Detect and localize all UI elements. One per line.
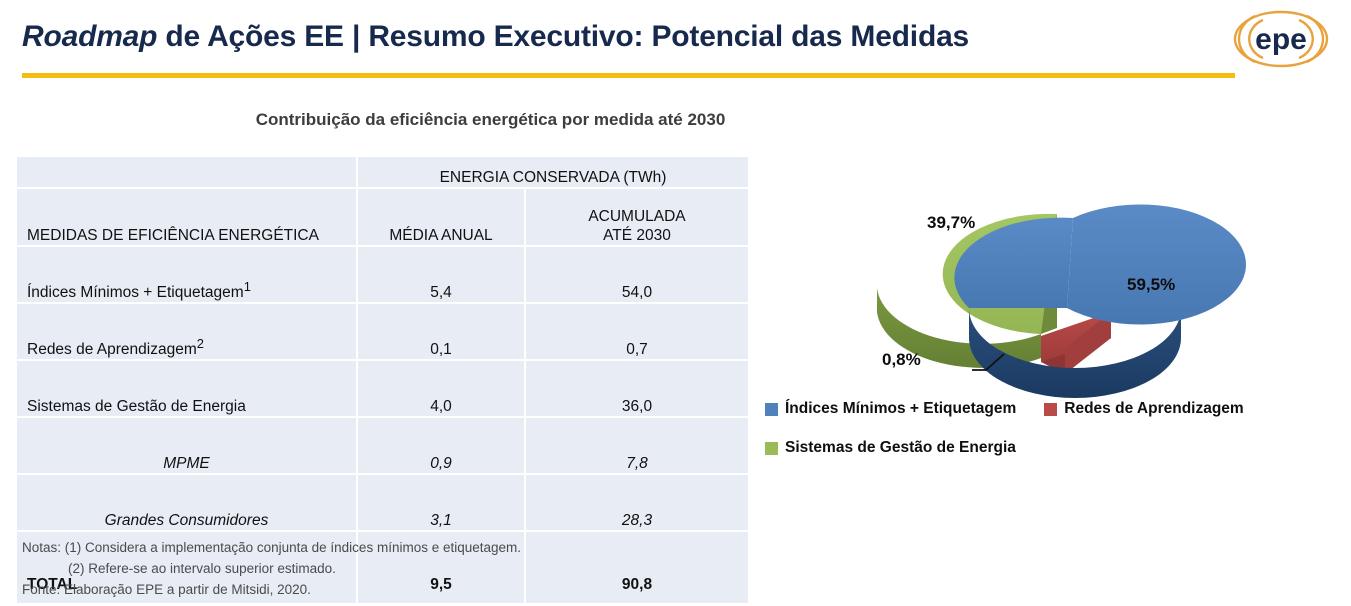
row-acumulada: 36,0	[525, 360, 749, 417]
chart-subtitle: Contribuição da eficiência energética po…	[0, 110, 1351, 130]
pie-label-indices-minimos: 59,5%	[1127, 275, 1175, 295]
source-note: Fonte: Elaboração EPE a partir de Mitsid…	[22, 580, 521, 601]
table-header-group-row: ENERGIA CONSERVADA (TWh)	[16, 156, 749, 188]
epe-logo: epe	[1229, 8, 1333, 70]
page-title: Roadmap de Ações EE | Resumo Executivo: …	[22, 20, 969, 54]
legend-item-sistemas-gestao[interactable]: Sistemas de Gestão de Energia	[765, 439, 1016, 457]
row-media-anual: 0,1	[357, 303, 525, 360]
footnotes: Notas: (1) Considera a implementação con…	[22, 538, 521, 601]
row-acumulada: 0,7	[525, 303, 749, 360]
table-col-header-acumulada-line1: ACUMULADA	[536, 208, 738, 226]
row-media-anual: 3,1	[357, 474, 525, 531]
legend-label-indices-minimos: Índices Mínimos + Etiquetagem	[785, 400, 1016, 418]
row-label: MPME	[16, 417, 357, 474]
table-col-header-acumulada: ACUMULADA ATÉ 2030	[525, 188, 749, 246]
row-label: Índices Mínimos + Etiquetagem1	[16, 246, 357, 303]
row-media-anual: 5,4	[357, 246, 525, 303]
table-col-header-measures: MEDIDAS DE EFICIÊNCIA ENERGÉTICA	[16, 188, 357, 246]
row-label-text: Sistemas de Gestão de Energia	[27, 398, 246, 415]
table-col-header-media-anual: MÉDIA ANUAL	[357, 188, 525, 246]
legend-row-1: Índices Mínimos + Etiquetagem Redes de A…	[765, 400, 1351, 418]
page-header: Roadmap de Ações EE | Resumo Executivo: …	[0, 0, 1351, 90]
page-title-italic: Roadmap	[22, 20, 157, 53]
header-divider	[22, 73, 1235, 78]
table-row: Grandes Consumidores 3,1 28,3	[16, 474, 749, 531]
table-header-blank-cell	[16, 156, 357, 188]
row-label-footnote-ref: 1	[244, 279, 251, 294]
total-acumulada: 90,8	[525, 531, 749, 604]
legend-swatch-green-icon	[765, 442, 778, 455]
pie-chart-svg	[845, 160, 1265, 410]
row-acumulada: 54,0	[525, 246, 749, 303]
table-col-header-acumulada-line2: ATÉ 2030	[536, 227, 738, 245]
page-title-rest: de Ações EE | Resumo Executivo: Potencia…	[157, 20, 969, 53]
table-row: Redes de Aprendizagem2 0,1 0,7	[16, 303, 749, 360]
legend-item-redes-aprendizagem[interactable]: Redes de Aprendizagem	[1044, 400, 1243, 418]
table-group-header: ENERGIA CONSERVADA (TWh)	[357, 156, 749, 188]
table-header-row: MEDIDAS DE EFICIÊNCIA ENERGÉTICA MÉDIA A…	[16, 188, 749, 246]
chart-legend: Índices Mínimos + Etiquetagem Redes de A…	[765, 400, 1351, 478]
row-label-text: Redes de Aprendizagem	[27, 341, 197, 358]
row-media-anual: 4,0	[357, 360, 525, 417]
row-acumulada: 28,3	[525, 474, 749, 531]
footnote-1: Notas: (1) Considera a implementação con…	[22, 538, 521, 559]
svg-text:epe: epe	[1255, 23, 1307, 56]
row-media-anual: 0,9	[357, 417, 525, 474]
row-acumulada: 7,8	[525, 417, 749, 474]
row-label: Grandes Consumidores	[16, 474, 357, 531]
row-label-footnote-ref: 2	[197, 336, 204, 351]
table-row: Índices Mínimos + Etiquetagem1 5,4 54,0	[16, 246, 749, 303]
legend-swatch-red-icon	[1044, 403, 1057, 416]
row-label: Redes de Aprendizagem2	[16, 303, 357, 360]
pie-label-redes-aprendizagem: 0,8%	[882, 350, 921, 370]
row-label: Sistemas de Gestão de Energia	[16, 360, 357, 417]
legend-label-sistemas-gestao: Sistemas de Gestão de Energia	[785, 439, 1016, 457]
row-label-text: Índices Mínimos + Etiquetagem	[27, 284, 244, 301]
footnote-2: (2) Refere-se ao intervalo superior esti…	[22, 559, 521, 580]
pie-leader-line	[970, 348, 1030, 378]
table-row: Sistemas de Gestão de Energia 4,0 36,0	[16, 360, 749, 417]
legend-row-2: Sistemas de Gestão de Energia	[765, 439, 1351, 457]
table-row: MPME 0,9 7,8	[16, 417, 749, 474]
legend-item-indices-minimos[interactable]: Índices Mínimos + Etiquetagem	[765, 400, 1016, 418]
legend-label-redes-aprendizagem: Redes de Aprendizagem	[1064, 400, 1243, 418]
legend-swatch-blue-icon	[765, 403, 778, 416]
epe-logo-icon: epe	[1229, 8, 1333, 70]
pie-label-sistemas-gestao: 39,7%	[927, 213, 975, 233]
